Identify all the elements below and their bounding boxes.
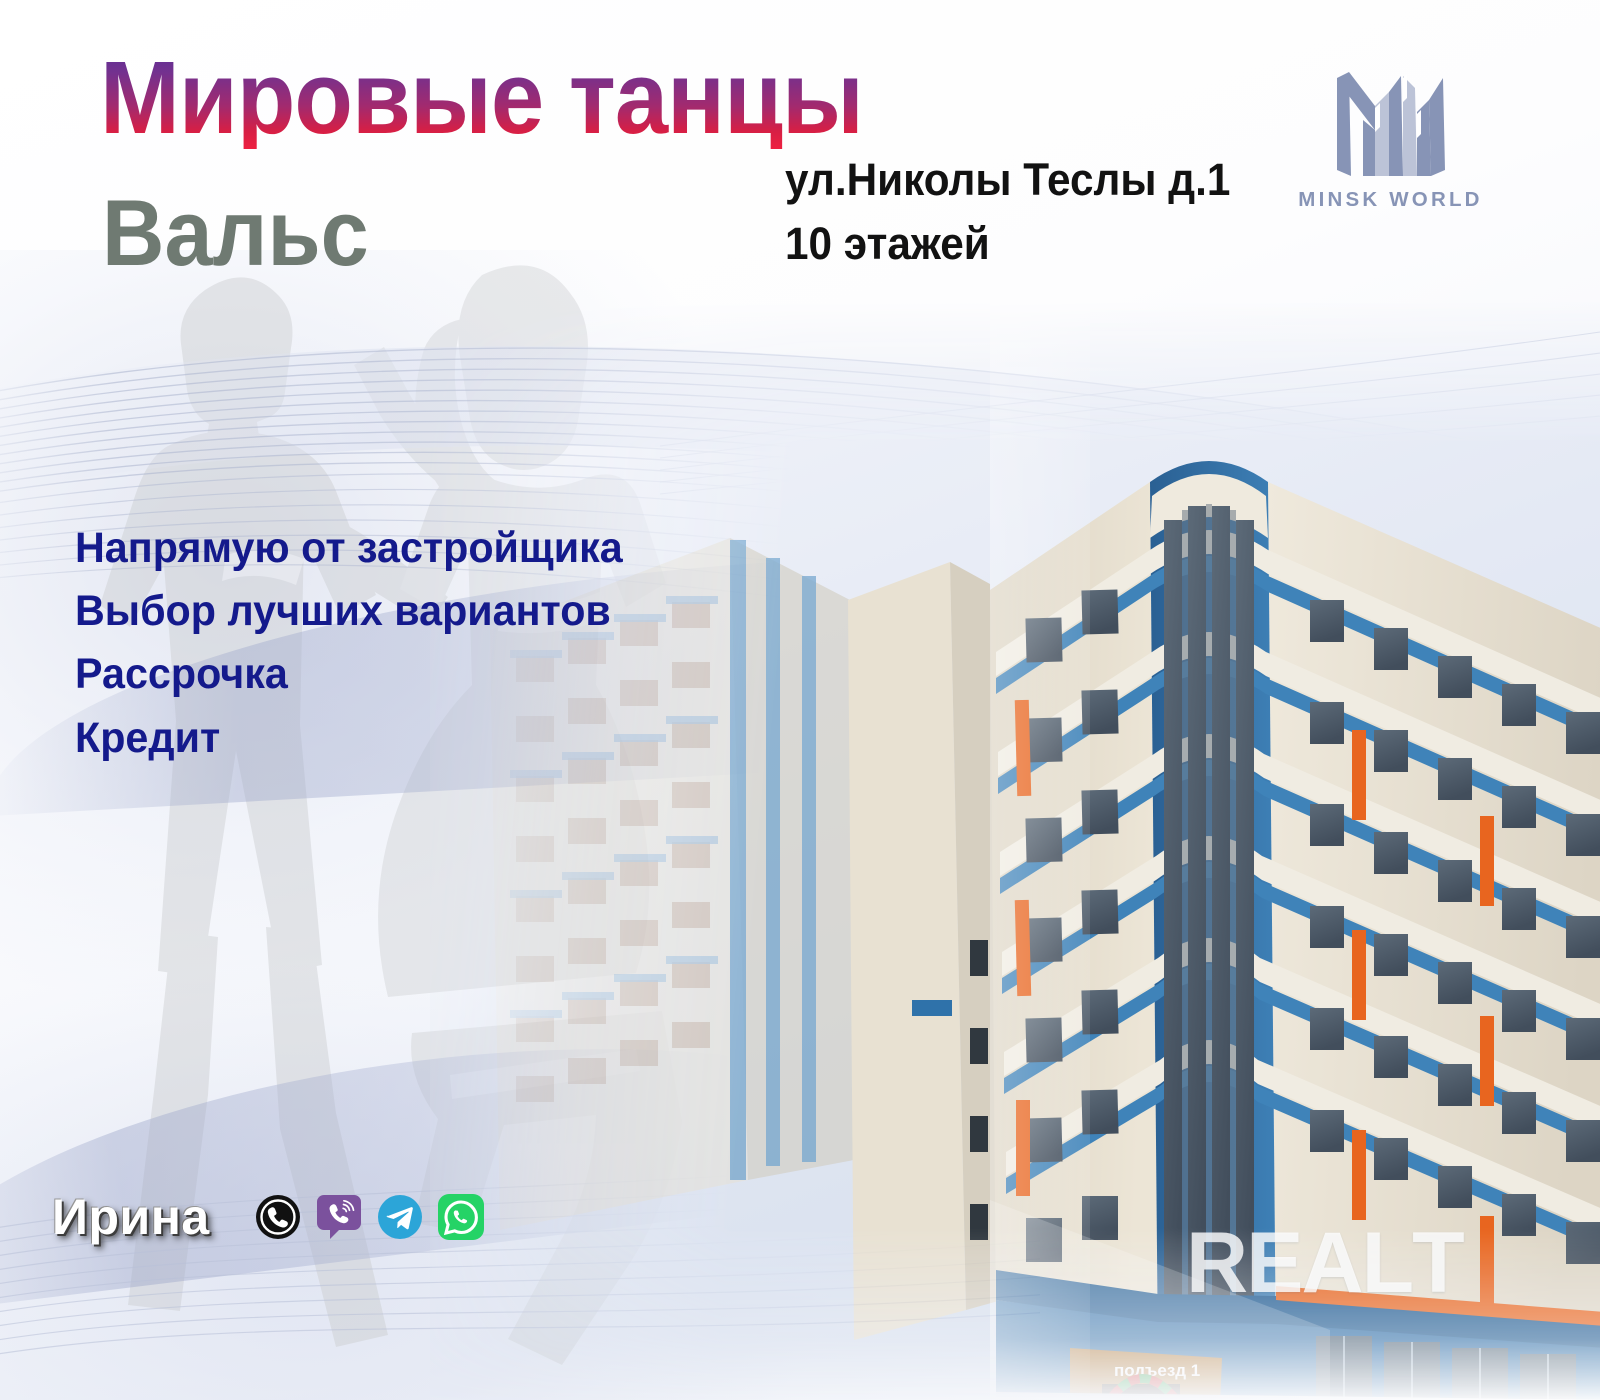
feature-item: Кредит [75,707,623,770]
mw-monogram-icon [1331,72,1451,182]
page-subtitle: Вальс [102,186,369,280]
contact-row: Ирина [52,1188,485,1246]
telegram-icon[interactable] [376,1193,424,1241]
realt-watermark-tail: T [1412,1215,1459,1311]
page-title: Мировые танцы [100,48,863,149]
phone-icon[interactable] [254,1193,302,1241]
viber-icon[interactable] [315,1193,363,1241]
promo-banner: подъезд 1 Мировые танцы Вальс ул.Николы … [0,0,1600,1400]
feature-item: Напрямую от застройщика [75,517,623,580]
agent-name: Ирина [52,1188,210,1246]
whatsapp-icon[interactable] [437,1193,485,1241]
minsk-world-logo: MINSK WORLD [1293,72,1488,222]
realt-watermark-head: REAL [1186,1215,1412,1311]
minsk-world-wordmark: MINSK WORLD [1293,188,1488,212]
realt-watermark: REALT [1186,1214,1459,1313]
feature-item: Рассрочка [75,643,623,706]
feature-list: Напрямую от застройщика Выбор лучших вар… [75,517,646,770]
address-block: ул.Николы Теслы д.1 10 этажей [785,148,1230,276]
contact-icons [254,1193,485,1241]
feature-item: Выбор лучших вариантов [75,580,623,643]
